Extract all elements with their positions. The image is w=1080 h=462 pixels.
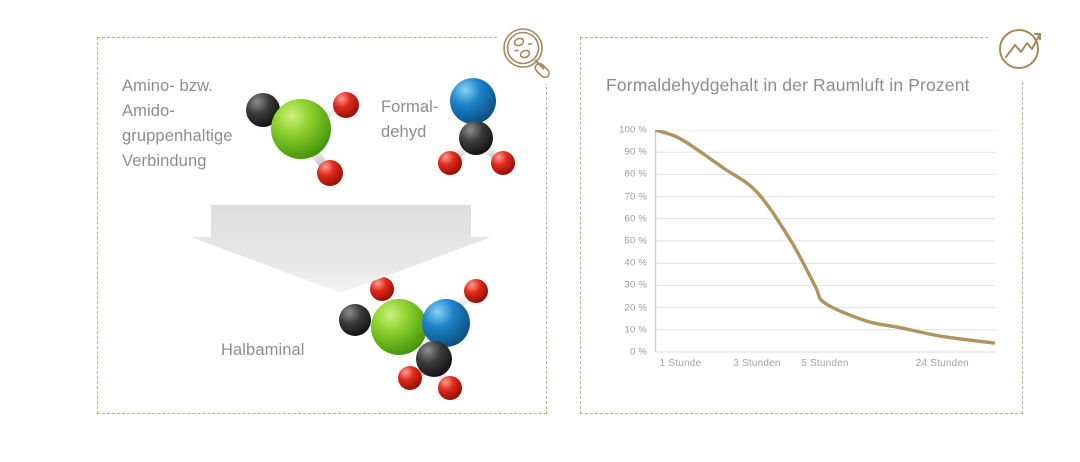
y-axis-tick: 90 % [605,147,647,158]
x-axis-tick: 24 Stunden [916,358,969,369]
y-axis-tick: 40 % [605,258,647,269]
formaldehyde-molecule [437,73,517,178]
chart-line-series [655,130,995,343]
slide-canvas: Amino- bzw. Amido- gruppenhaltige Verbin… [0,0,1080,462]
y-axis-tick: 70 % [605,191,647,202]
y-axis-tick: 30 % [605,280,647,291]
x-axis-tick: 5 Stunden [801,358,848,369]
x-axis-tick: 1 Stunde [660,358,702,369]
down-arrow-icon [191,201,491,296]
chart-title: Formaldehydgehalt in der Raumluft in Pro… [606,75,970,96]
trend-chart-circle-icon [990,18,1052,80]
chart-x-axis: 1 Stunde3 Stunden5 Stunden24 Stunden [600,358,1010,380]
y-axis-tick: 0 % [605,347,647,358]
amino-compound-molecule [236,84,366,189]
chart-plot [655,130,995,352]
y-axis-tick: 100 % [605,125,647,136]
y-axis-tick: 50 % [605,236,647,247]
y-axis-tick: 80 % [605,169,647,180]
y-axis-tick: 60 % [605,213,647,224]
y-axis-tick: 10 % [605,324,647,335]
magnifier-germs-icon [497,22,559,84]
y-axis-tick: 20 % [605,302,647,313]
x-axis-tick: 3 Stunden [733,358,780,369]
